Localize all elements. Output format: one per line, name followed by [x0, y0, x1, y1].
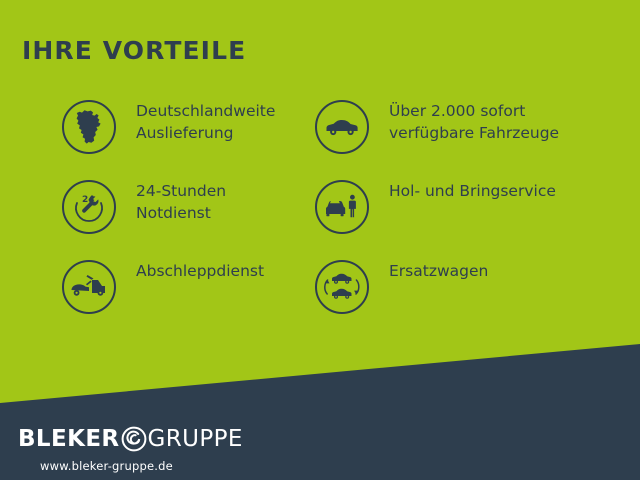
- logo-name-bold: BLEKER: [18, 428, 120, 451]
- promotional-slide: IHRE VORTEILE Deutschlandweite Ausliefer…: [0, 0, 640, 480]
- logo-name-light: GRUPPE: [148, 428, 243, 451]
- two-cars-exchange-icon: [315, 260, 369, 314]
- feature-item-ersatzwagen[interactable]: Ersatzwagen: [315, 256, 625, 336]
- logo-lockup: BLEKER GRUPPE: [18, 424, 243, 454]
- feature-item-verfuegbare-fahrzeuge[interactable]: Über 2.000 sofort verfügbare Fahrzeuge: [315, 96, 625, 176]
- car-icon: [315, 100, 369, 154]
- website-url[interactable]: www.bleker-gruppe.de: [40, 459, 243, 473]
- feature-item-24-stunden-notdienst[interactable]: 24 24-Stunden Notdienst: [62, 176, 312, 256]
- feature-label: Ersatzwagen: [389, 260, 639, 282]
- features-column-right: Über 2.000 sofort verfügbare Fahrzeuge: [315, 96, 625, 336]
- page-title: IHRE VORTEILE: [22, 38, 246, 63]
- germany-map-icon: [62, 100, 116, 154]
- 24-hour-wrench-icon: 24: [62, 180, 116, 234]
- spiral-circle-logo-icon: [121, 426, 147, 452]
- features-column-left: Deutschlandweite Auslieferung 24 24-Stun…: [62, 96, 312, 336]
- feature-label: Über 2.000 sofort verfügbare Fahrzeuge: [389, 100, 639, 144]
- feature-item-abschleppdienst[interactable]: Abschleppdienst: [62, 256, 312, 336]
- feature-item-hol-und-bringservice[interactable]: Hol- und Bringservice: [315, 176, 625, 256]
- tow-truck-icon: [62, 260, 116, 314]
- feature-item-deutschlandweite-auslieferung[interactable]: Deutschlandweite Auslieferung: [62, 96, 312, 176]
- company-logo[interactable]: BLEKER GRUPPE www.bleker-gruppe.de: [18, 424, 243, 476]
- feature-label: Hol- und Bringservice: [389, 180, 639, 202]
- car-with-person-icon: [315, 180, 369, 234]
